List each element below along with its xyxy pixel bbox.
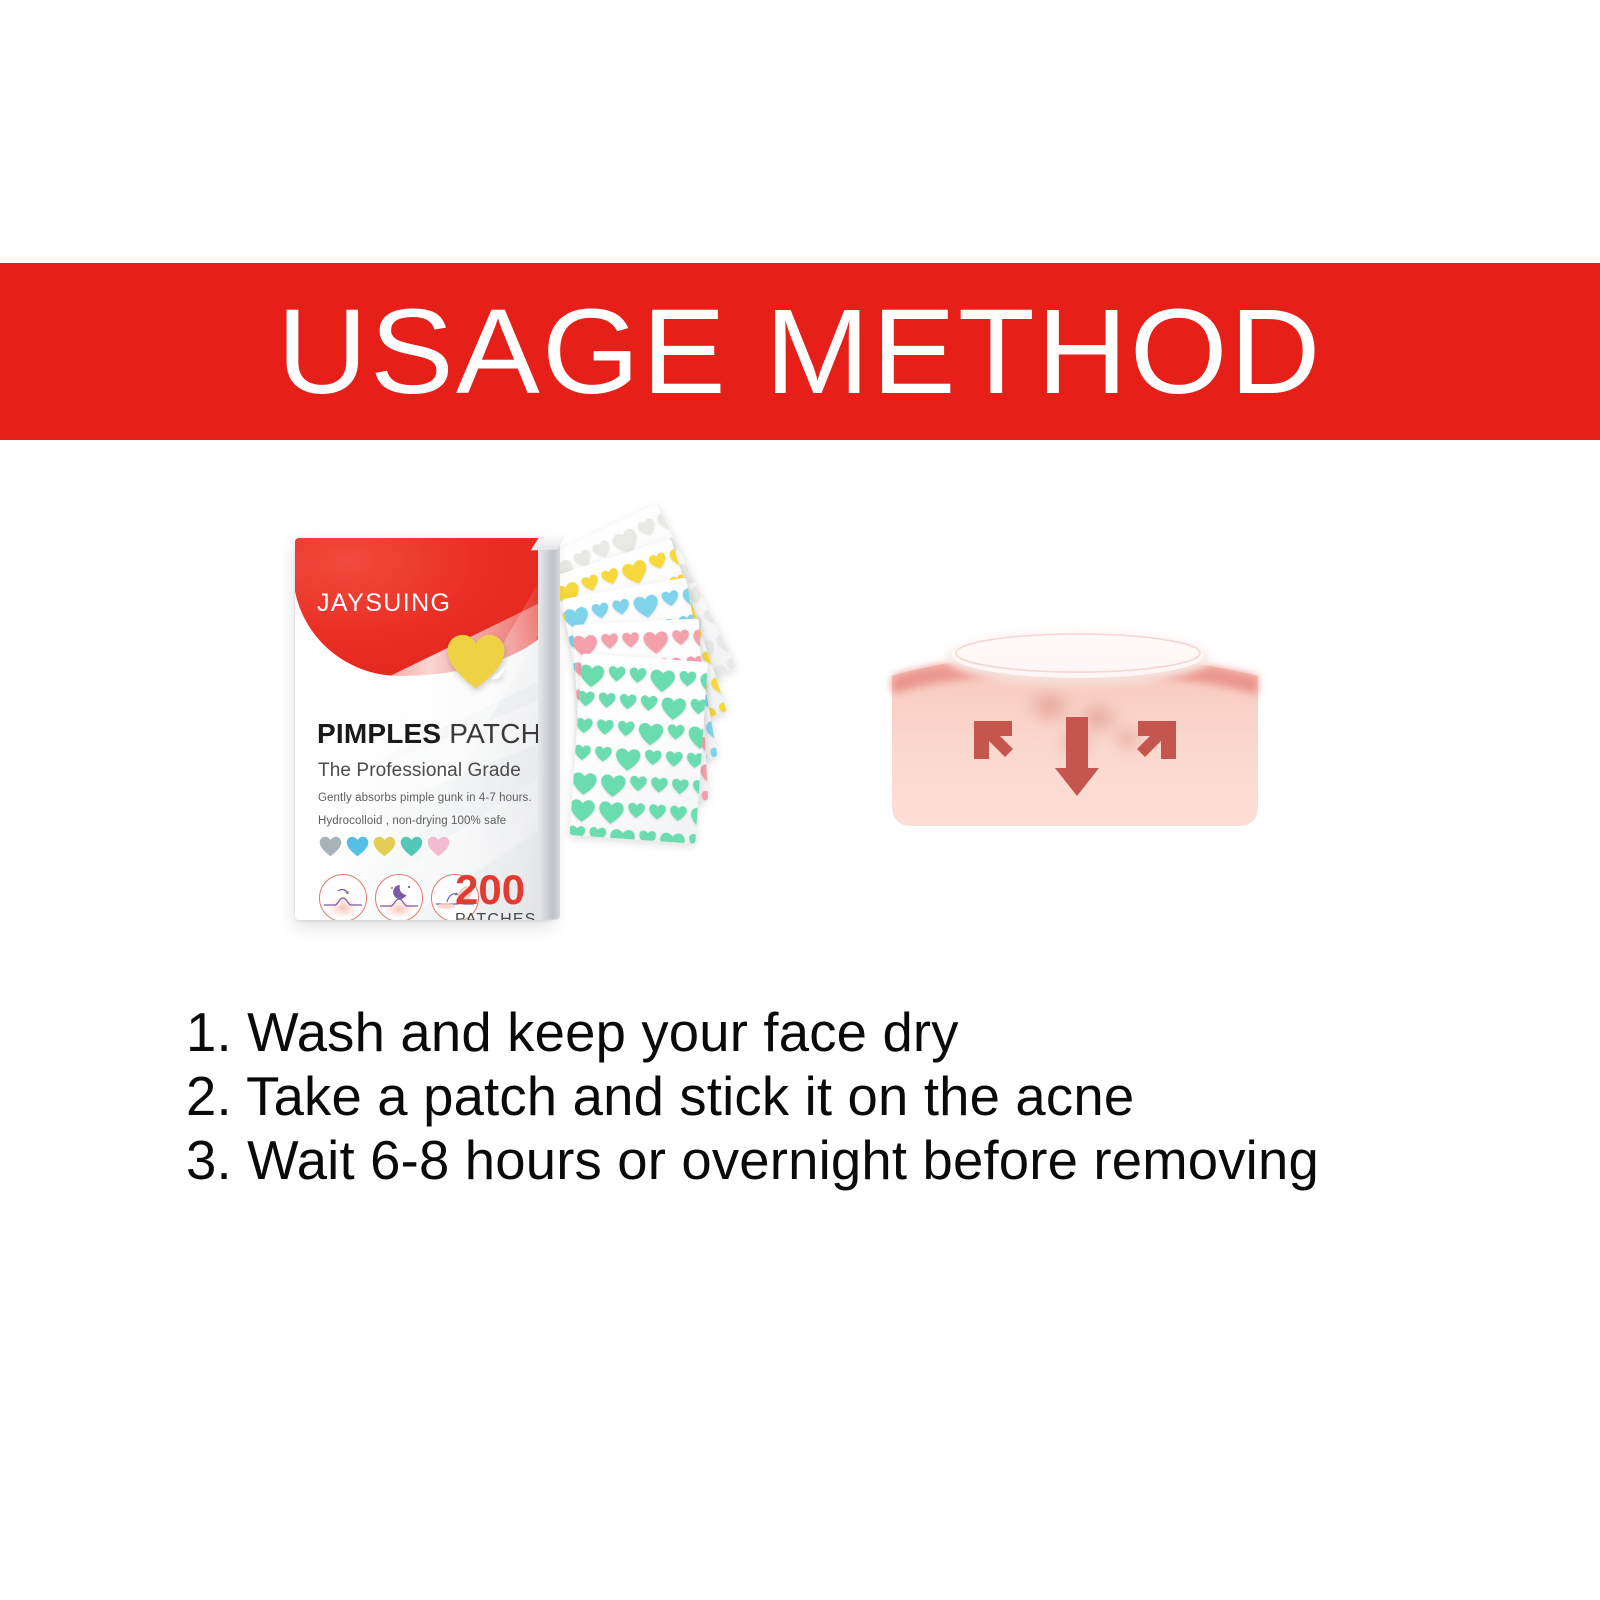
heart-patch xyxy=(671,629,690,646)
heart-patch xyxy=(578,663,606,689)
heart-patch xyxy=(632,593,662,621)
step-item-1: 1. Wash and keep your face dry xyxy=(186,1000,1473,1064)
heart-patch xyxy=(658,831,686,843)
heart-patch xyxy=(577,690,596,707)
heart-patch-grid xyxy=(570,659,708,844)
heart-patch xyxy=(642,630,669,655)
heart-patch xyxy=(588,826,607,843)
heart-patch xyxy=(637,721,665,747)
overnight-moon-icon xyxy=(375,874,423,920)
brand-name: JAYSUING xyxy=(317,591,451,616)
box-spine xyxy=(538,541,560,920)
heart-patch xyxy=(688,833,707,843)
pimple-forming-icon xyxy=(319,874,367,920)
heart-patch xyxy=(638,830,657,844)
heart-patch xyxy=(717,698,727,719)
heart-patch xyxy=(600,633,619,650)
patch-sheets-stack xyxy=(548,520,788,930)
heart-patch xyxy=(608,828,636,844)
heart-patch xyxy=(713,625,736,658)
product-claim-hydrocolloid: Hydrocolloid , non-drying 100% safe xyxy=(318,815,506,827)
step-item-3: 3. Wait 6-8 hours or overnight before re… xyxy=(186,1128,1473,1192)
heart-patch xyxy=(702,604,725,626)
step-item-2: 2. Take a patch and stick it on the acne xyxy=(186,1064,1473,1128)
product-claim-absorb: Gently absorbs pimple gunk in 4-7 hours. xyxy=(318,792,532,804)
page-title: USAGE METHOD xyxy=(277,291,1323,412)
heart-patch xyxy=(709,745,718,764)
heart-patch xyxy=(618,693,637,710)
heart-patch xyxy=(599,566,621,587)
heart-patch xyxy=(678,670,697,687)
heart-patch xyxy=(570,771,598,797)
heart-patch xyxy=(590,601,611,620)
heart-patch xyxy=(617,720,636,737)
heart-patch xyxy=(666,723,685,740)
heart-patch xyxy=(671,778,690,795)
hydrocolloid-patch xyxy=(946,630,1210,686)
heart-patch xyxy=(611,598,632,617)
product-name: PIMPLES PATCH xyxy=(317,720,541,748)
heart-patch xyxy=(706,773,718,779)
heart-patch xyxy=(621,632,640,649)
heart-patch xyxy=(660,589,681,608)
heart-patch xyxy=(575,717,594,734)
heart-patch xyxy=(573,744,592,761)
skin-cross-section-with-patch xyxy=(880,598,1270,838)
heart-patch xyxy=(649,668,677,694)
heart-patch xyxy=(597,692,616,709)
usage-steps-list: 1. Wash and keep your face dry 2. Take a… xyxy=(186,1000,1486,1192)
heart-patch xyxy=(629,775,648,792)
heart-patch xyxy=(654,504,688,537)
heart-patch xyxy=(599,773,627,799)
green-heart-sheet xyxy=(570,653,708,843)
teal-heart-swatch xyxy=(400,836,423,857)
heart-patch xyxy=(730,681,736,703)
yellow-heart-sticker-icon xyxy=(445,633,507,690)
heart-patch xyxy=(704,717,717,745)
gray-heart-swatch xyxy=(319,836,342,857)
heart-patch xyxy=(701,790,709,807)
heart-patch xyxy=(660,696,688,722)
heart-patch xyxy=(570,798,597,824)
product-tagline: The Professional Grade xyxy=(318,760,521,782)
heart-patch xyxy=(650,776,669,793)
heart-patch xyxy=(597,800,625,826)
product-name-bold: PIMPLES xyxy=(317,718,449,749)
patch-count-label: PATCHES xyxy=(455,912,537,920)
usage-method-banner: USAGE METHOD xyxy=(0,263,1600,440)
heart-patch xyxy=(594,745,613,762)
yellow-heart-swatch xyxy=(373,836,396,857)
patch-count-number: 200 xyxy=(455,870,537,910)
heart-patch xyxy=(635,516,658,538)
heart-patch xyxy=(648,803,667,820)
heart-patch xyxy=(647,551,669,572)
product-name-light: PATCH xyxy=(449,718,541,749)
heart-patch xyxy=(644,749,663,766)
heart-patch xyxy=(665,750,684,767)
blue-heart-swatch xyxy=(346,836,369,857)
heart-patch xyxy=(580,573,602,594)
heart-patch xyxy=(627,802,646,819)
heart-patch xyxy=(614,747,642,773)
heart-patch xyxy=(669,805,688,822)
product-illustration: JAYSUING PIMPLES PATCH The Professional … xyxy=(280,520,790,930)
product-box-front: JAYSUING PIMPLES PATCH The Professional … xyxy=(295,538,553,920)
heart-patch xyxy=(607,665,626,682)
heart-patch xyxy=(718,727,727,748)
heart-patch xyxy=(639,695,658,712)
heart-patch xyxy=(596,719,615,736)
heart-patch xyxy=(628,667,647,684)
heart-patch xyxy=(689,806,708,832)
patch-count-block: 200 PATCHES xyxy=(455,870,537,920)
color-swatch-row xyxy=(319,836,450,857)
pink-heart-swatch xyxy=(427,836,450,857)
heart-patch xyxy=(570,825,587,842)
